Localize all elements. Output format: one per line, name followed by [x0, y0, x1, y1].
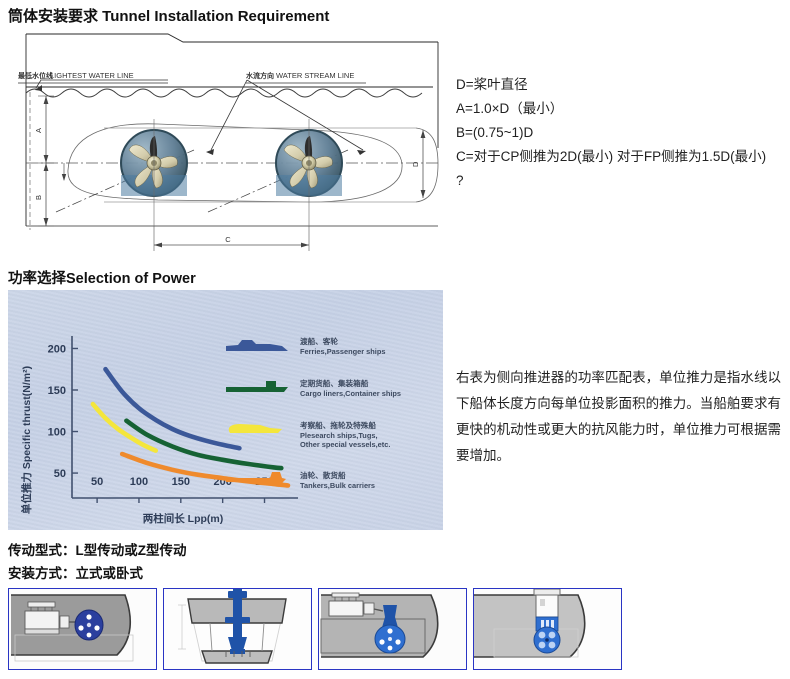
tunnel-installation-drawing: 最低水位线 LIGHTEST WATER LINE 水流方向 WATER STR…: [8, 30, 443, 258]
chart-x-tick-label: 150: [172, 476, 190, 488]
formula-line-question: ?: [456, 169, 786, 193]
chart-legend-item: 油轮、散货船Tankers,Bulk carriers: [226, 470, 375, 490]
label-lightest-water-line-cn: 最低水位线: [18, 71, 53, 80]
photo-vertical-mounted-thruster[interactable]: [473, 588, 622, 670]
legend-ship-icon: [229, 424, 282, 433]
chart-x-axis-title: 两柱间长 Lpp(m): [143, 512, 224, 525]
page-title-tunnel-installation: 筒体安装要求 Tunnel Installation Requirement: [8, 5, 329, 26]
legend-ship-icon: [226, 340, 288, 351]
formula-line-b: B=(0.75~1)D: [456, 121, 786, 145]
chart-y-tick-label: 200: [48, 343, 66, 355]
label-water-stream-line-cn: 水流方向: [246, 71, 274, 80]
photo-horizontal-l-drive[interactable]: [8, 588, 157, 670]
chart-y-tick-label: 150: [48, 385, 66, 397]
chart-x-tick-label: 100: [130, 476, 148, 488]
legend-ship-icon: [226, 381, 288, 392]
dimension-label-c: C: [225, 235, 231, 244]
label-water-stream-line-en: WATER STREAM LINE: [276, 71, 354, 80]
chart-y-tick-label: 100: [48, 427, 66, 439]
legend-label-cn: 考察船、拖轮及特殊船: [300, 420, 376, 430]
formula-line-a: A=1.0×D（最小）: [456, 97, 786, 121]
specific-thrust-chart: 5010015020025050100150200 渡船、客轮Ferries,P…: [8, 290, 443, 530]
legend-label-en: Other special vessels,etc.: [300, 440, 390, 449]
legend-label-en: Cargo liners,Container ships: [300, 389, 401, 398]
legend-label-cn: 渡船、客轮: [300, 336, 338, 346]
chart-y-axis-title: 单位推力 Specific thrust(N/m²): [20, 366, 33, 514]
propeller-icon: [375, 625, 405, 653]
photo-engine-driven-thruster[interactable]: [318, 588, 467, 670]
label-lightest-water-line-en: LIGHTEST WATER LINE: [50, 71, 134, 80]
legend-label-cn: 定期货船、集装箱船: [300, 378, 369, 388]
dimension-label-d: D: [411, 161, 420, 167]
chart-legend-item: 考察船、拖轮及特殊船Plesearch ships,Tugs,Other spe…: [229, 420, 391, 449]
formula-notes-block: D=桨叶直径 A=1.0×D（最小） B=(0.75~1)D C=对于CP侧推为…: [456, 73, 786, 193]
thruster-icon: [75, 610, 103, 640]
chart-legend-item: 渡船、客轮Ferries,Passenger ships: [226, 336, 385, 356]
chart-x-tick-label: 50: [91, 476, 103, 488]
legend-label-en: Plesearch ships,Tugs,: [300, 431, 378, 440]
power-selection-note: 右表为侧向推进器的功率匹配表，单位推力是指水线以下船体长度方向每单位投影面积的推…: [456, 365, 781, 469]
legend-label-en: Tankers,Bulk carriers: [300, 481, 375, 490]
mount-type-line: 安装方式：立式或卧式: [8, 562, 143, 582]
vertical-drive-icon: [534, 589, 560, 617]
thruster-pod-icon: [534, 617, 560, 653]
engine-icon: [25, 602, 59, 634]
formula-line-d: D=桨叶直径: [456, 73, 786, 97]
installation-photo-strip: [8, 588, 628, 670]
legend-label-cn: 油轮、散货船: [300, 470, 346, 480]
chart-y-tick-label: 50: [54, 468, 66, 480]
dimension-label-a: A: [34, 128, 43, 133]
photo-vertical-z-drive[interactable]: [163, 588, 312, 670]
legend-label-en: Ferries,Passenger ships: [300, 347, 385, 356]
formula-line-c: C=对于CP侧推为2D(最小) 对于FP侧推为1.5D(最小): [456, 145, 786, 169]
chart-legend-item: 定期货船、集装箱船Cargo liners,Container ships: [226, 378, 401, 398]
dimension-label-b: B: [34, 195, 43, 200]
page-title-selection-of-power: 功率选择Selection of Power: [8, 267, 196, 288]
drive-type-line: 传动型式：L型传动或Z型传动: [8, 539, 187, 559]
